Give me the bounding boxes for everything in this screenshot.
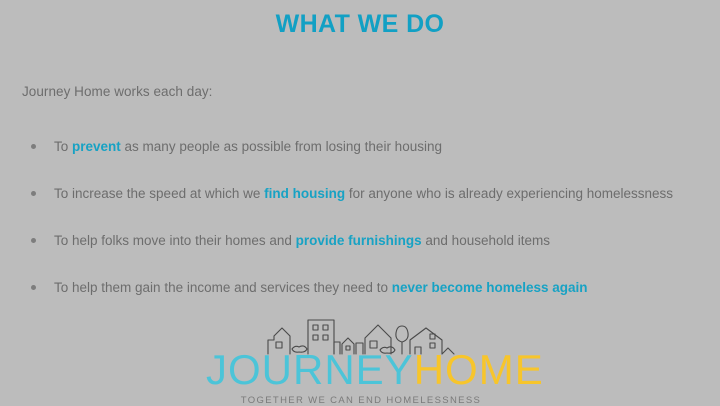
plain-text: To increase the speed at which we [54,186,264,201]
emphasised-text: find housing [264,186,345,201]
list-item-text: To increase the speed at which we find h… [54,186,673,201]
plain-text: for anyone who is already experiencing h… [345,186,673,201]
plain-text: To help them gain the income and service… [54,280,392,295]
bullet-marker-icon [31,144,36,149]
list-item: To help folks move into their homes and … [22,224,694,257]
list-item-text: To help folks move into their homes and … [54,233,550,248]
logo-tagline: TOGETHER WE CAN END HOMELESSNESS [206,395,516,406]
list-item-text: To prevent as many people as possible fr… [54,139,442,154]
bullet-marker-icon [31,191,36,196]
emphasised-text: never become homeless again [392,280,588,295]
slide: WHAT WE DO Journey Home works each day: … [0,0,720,405]
logo-wordmark: JOURNEYHOME [206,348,516,392]
organization-logo: JOURNEYHOME TOGETHER WE CAN END HOMELESS… [206,316,516,402]
plain-text: as many people as possible from losing t… [121,139,442,154]
plain-text: To help folks move into their homes and [54,233,296,248]
list-item: To prevent as many people as possible fr… [22,130,694,163]
logo-word-journey: JOURNEY [206,346,414,393]
logo-word-home: HOME [414,346,544,393]
list-item: To help them gain the income and service… [22,271,694,304]
page-title: WHAT WE DO [0,10,720,39]
list-item-text: To help them gain the income and service… [54,280,588,295]
emphasised-text: provide furnishings [296,233,422,248]
bullet-list: To prevent as many people as possible fr… [22,130,694,318]
bullet-marker-icon [31,238,36,243]
emphasised-text: prevent [72,139,121,154]
intro-text: Journey Home works each day: [22,84,213,99]
list-item: To increase the speed at which we find h… [22,177,694,210]
plain-text: To [54,139,72,154]
plain-text: and household items [422,233,550,248]
bullet-marker-icon [31,285,36,290]
